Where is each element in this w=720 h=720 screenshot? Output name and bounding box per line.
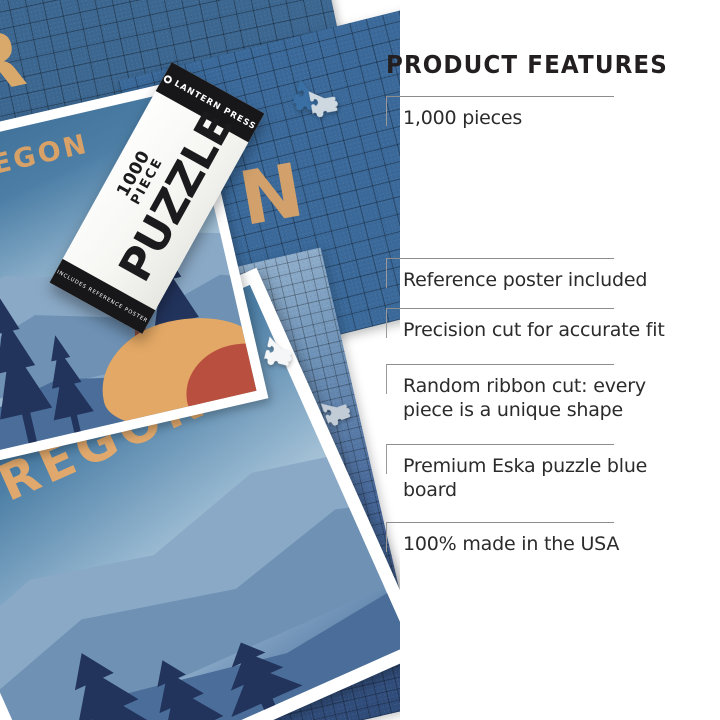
feature-rule-horizontal [386, 258, 614, 259]
feature-rule-vertical [386, 444, 387, 474]
lantern-logo-icon [163, 73, 174, 84]
feature-rule-vertical [386, 364, 387, 394]
feature-label: 100% made in the USA [403, 532, 665, 556]
feature-label: Premium Eska puzzle blue board [403, 454, 665, 503]
piece-pair-upper-light [306, 86, 341, 121]
feature-label: Reference poster included [403, 268, 665, 292]
product-feature-image: OR N OREGON [0, 0, 720, 720]
feature-rule-horizontal [386, 522, 614, 523]
feature-label: 1,000 pieces [403, 106, 665, 130]
feature-label: Precision cut for accurate fit [403, 318, 665, 342]
feature-rule-vertical [386, 522, 387, 552]
feature-label: Random ribbon cut: every piece is a uniq… [403, 374, 665, 423]
feature-rule-vertical [386, 96, 387, 126]
panel-title: PRODUCT FEATURES [386, 50, 668, 79]
feature-rule-horizontal [386, 444, 614, 445]
product-photo: OR N OREGON [0, 0, 400, 720]
product-features-panel: PRODUCT FEATURES 1,000 piecesReference p… [384, 0, 720, 720]
feature-rule-vertical [386, 258, 387, 288]
feature-rule-horizontal [386, 308, 614, 309]
feature-rule-vertical [386, 308, 387, 338]
feature-rule-horizontal [386, 364, 614, 365]
feature-rule-horizontal [386, 96, 614, 97]
